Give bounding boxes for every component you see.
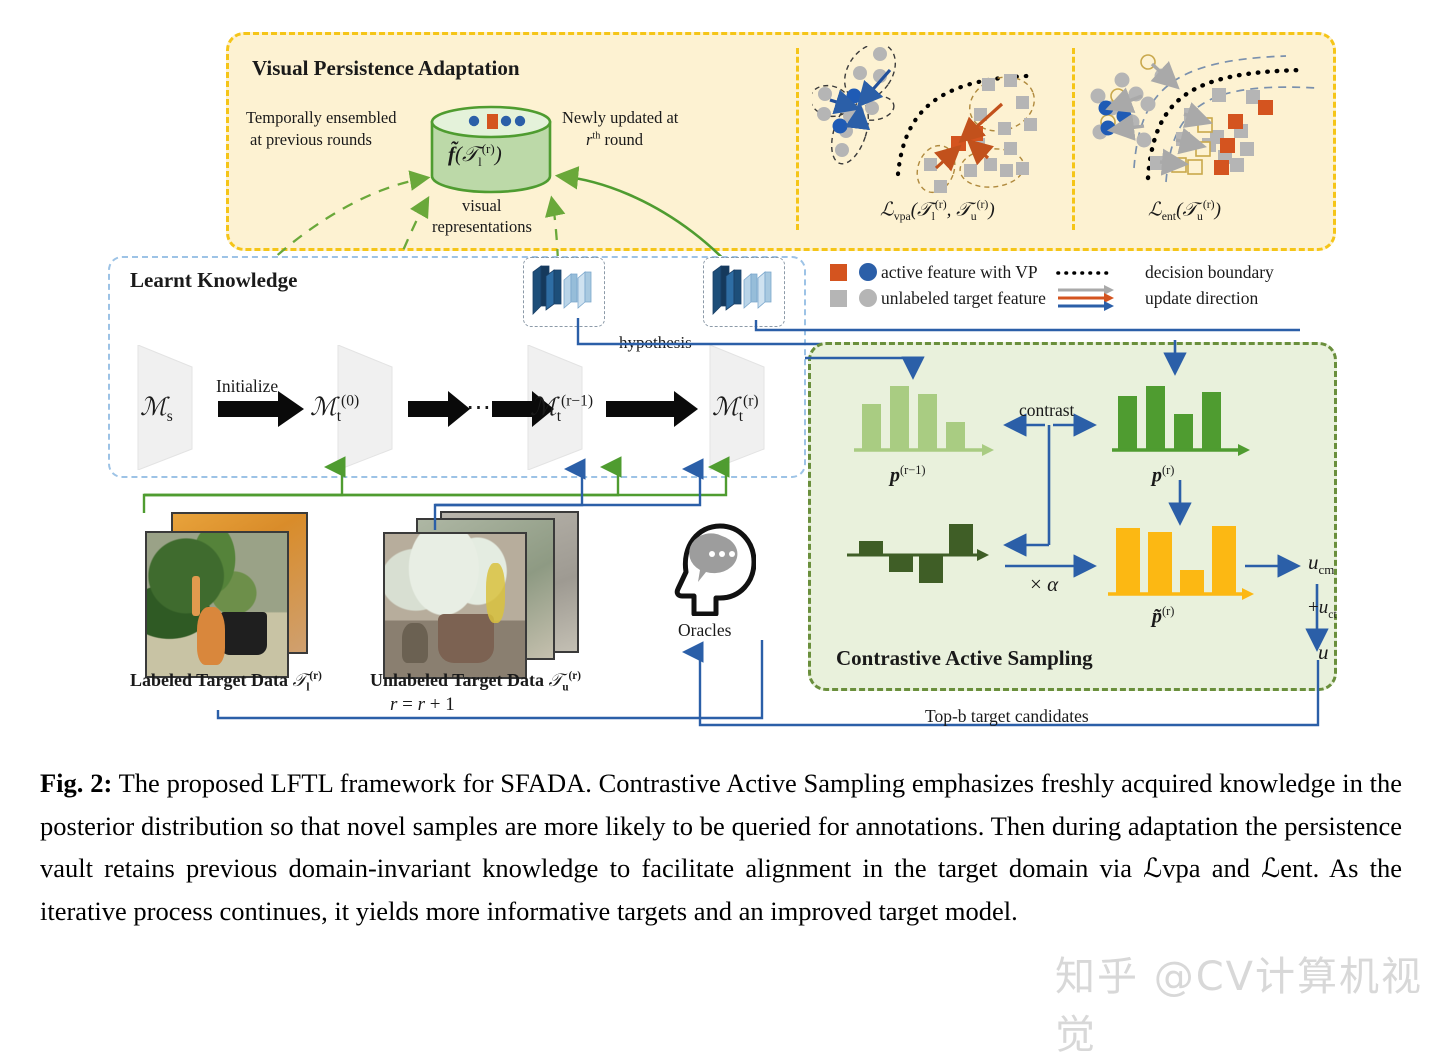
learnt-knowledge-title: Learnt Knowledge bbox=[130, 268, 297, 293]
figure-caption: Fig. 2: The proposed LFTL framework for … bbox=[40, 762, 1402, 932]
model-label-source: ℳs bbox=[140, 392, 173, 426]
model-ellipsis: ⋯ bbox=[466, 392, 491, 422]
legend-label-decision-boundary: decision boundary bbox=[1145, 262, 1274, 283]
initialize-label: Initialize bbox=[216, 376, 278, 397]
alpha-label: × α bbox=[1030, 572, 1058, 597]
u-cm-label: ucm bbox=[1308, 550, 1334, 578]
vpa-panel-title: Visual Persistence Adaptation bbox=[252, 56, 520, 81]
figure-caption-text: The proposed LFTL framework for SFADA. C… bbox=[40, 768, 1402, 926]
loss-vpa-label: ℒvpa(𝒯l(r), 𝒯u(r)) bbox=[880, 198, 995, 224]
contrast-label: contrast bbox=[1019, 400, 1074, 421]
scatter-lvpa bbox=[812, 46, 1074, 196]
legend-label-active-feature: active feature with VP bbox=[881, 262, 1038, 283]
model-label-t0: ℳt(0) bbox=[310, 392, 359, 426]
data-to-model-arrows bbox=[90, 455, 820, 545]
feedback-loops bbox=[130, 640, 1350, 735]
watermark: 知乎 @CV计算机视觉 bbox=[1055, 944, 1440, 1060]
cas-wiring bbox=[805, 340, 1335, 685]
round-increment-label: r = r + 1 bbox=[390, 694, 455, 716]
figure-root: Visual Persistence Adaptation Temporally… bbox=[0, 0, 1440, 1033]
oracles-label: Oracles bbox=[678, 620, 731, 641]
scatter-lent bbox=[1086, 46, 1328, 196]
topb-label: Top-b target candidates bbox=[925, 706, 1089, 727]
figure-number: Fig. 2: bbox=[40, 768, 112, 798]
u-ct-label: +uct bbox=[1308, 597, 1337, 622]
loss-ent-label: ℒent(𝒯u(r)) bbox=[1148, 198, 1221, 224]
